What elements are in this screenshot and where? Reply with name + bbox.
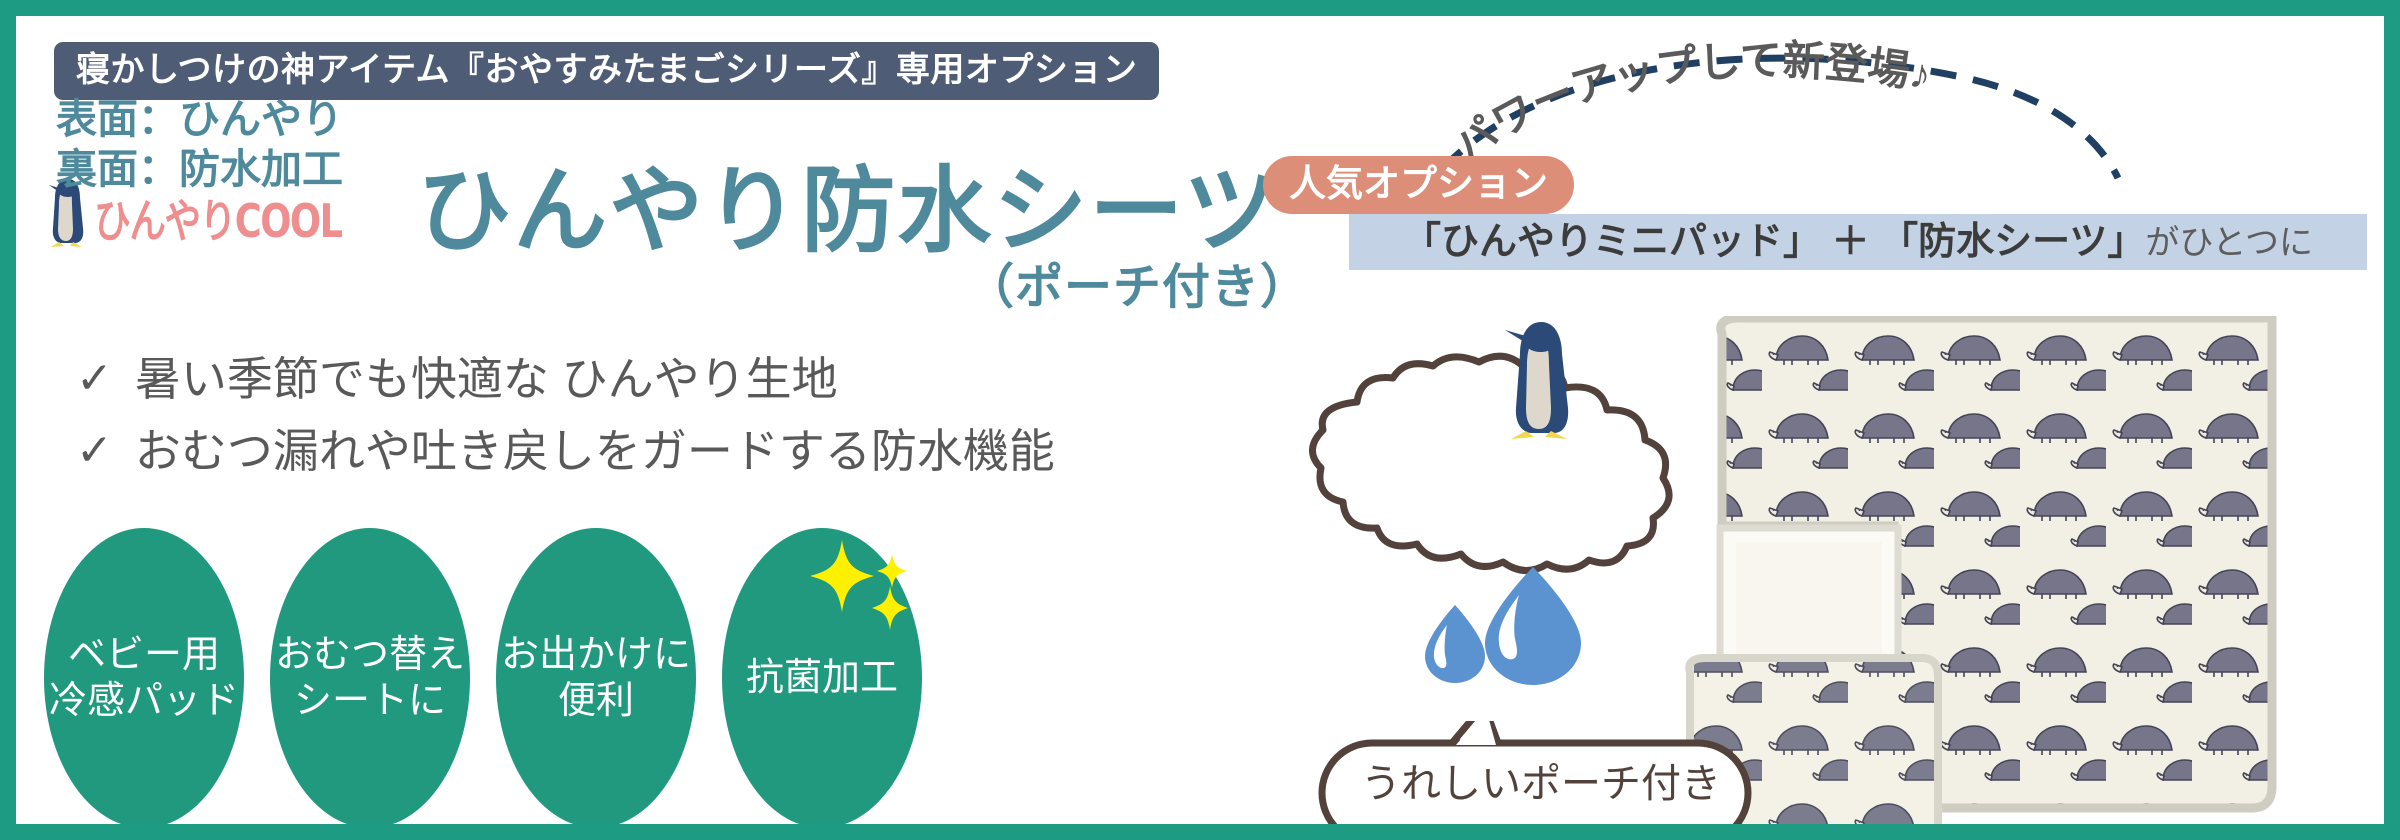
water-drop-icon [1421,561,1601,701]
benefit-label: 抗菌加工 [746,655,898,701]
benefit-label: おむつ替え シートに [275,632,465,725]
feature-text: おむつ漏れや吐き戻しをガードする防水機能 [135,428,1055,474]
check-icon: ✓ [76,429,113,473]
benefit-circle-group: ベビー用 冷感パッド おむつ替え シートに お出かけに 便利 抗菌加工 [44,528,922,824]
page-title: ひんやり防水シーツ [417,164,1279,258]
combo-band: 「ひんやりミニパッド」 ＋ 「防水シーツ」がひとつに [1349,214,2367,270]
feature-item: ✓ おむつ漏れや吐き戻しをガードする防水機能 [76,428,1055,474]
product-banner: 寝かしつけの神アイテム『おやすみたまごシリーズ』専用オプション ひんやりCOOL… [0,0,2400,840]
eyebrow-label: 寝かしつけの神アイテム『おやすみたまごシリーズ』専用オプション [54,42,1159,100]
benefit-circle: 抗菌加工 [722,528,922,824]
penguin-icon [1501,316,1581,441]
benefit-circle: ベビー用 冷感パッド [44,528,244,824]
arc-text: パワーアップして新登場♪ [1445,38,1935,171]
popular-option-badge: 人気オプション [1263,156,1574,214]
combo-band-text: 「ひんやりミニパッド」 ＋ 「防水シーツ」がひとつに [1403,223,2313,261]
combo-bold: 「ひんやりミニパッド」 ＋ 「防水シーツ」 [1403,221,2145,263]
cloud-bubble-text: 表面：ひんやり 裏面：防水加工 [56,94,343,194]
cool-tagline: ひんやりCOOL [94,198,341,244]
pouch-bubble-text: うれしいポーチ付き [1361,764,1721,804]
feature-text: 暑い季節でも快適な ひんやり生地 [135,356,838,402]
check-icon: ✓ [76,357,113,401]
benefit-label: ベビー用 冷感パッド [49,632,239,725]
sparkle-icon [808,534,918,644]
feature-item: ✓ 暑い季節でも快適な ひんやり生地 [76,356,1055,402]
product-photo [1676,316,2296,824]
banner-canvas: 寝かしつけの神アイテム『おやすみたまごシリーズ』専用オプション ひんやりCOOL… [16,16,2384,824]
benefit-circle: お出かけに 便利 [496,528,696,824]
page-subtitle: （ポーチ付き） [966,264,1309,312]
benefit-circle: おむつ替え シートに [270,528,470,824]
combo-light: がひとつに [2145,224,2313,262]
feature-list: ✓ 暑い季節でも快適な ひんやり生地 ✓ おむつ漏れや吐き戻しをガードする防水機… [76,356,1055,500]
benefit-label: お出かけに 便利 [501,632,691,725]
